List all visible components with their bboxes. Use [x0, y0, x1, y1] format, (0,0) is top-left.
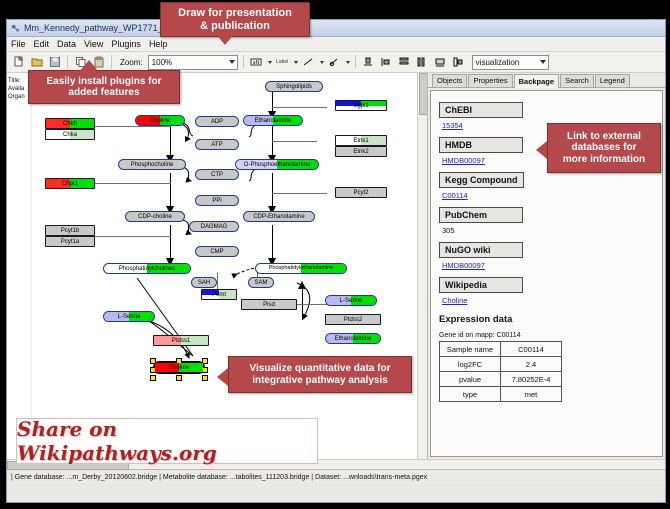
- group-icon[interactable]: [433, 55, 448, 70]
- node-sphingolipids[interactable]: Sphingolipids: [265, 81, 323, 92]
- menu-view[interactable]: View: [84, 39, 103, 49]
- node-label: Ptdss1: [172, 338, 190, 344]
- node-label: ATP: [211, 142, 222, 148]
- edge-pcyt2-line: [272, 193, 327, 194]
- node-choline-selected[interactable]: Choline: [153, 361, 205, 374]
- cell-value: met: [501, 387, 562, 402]
- node-label: Pemt: [212, 292, 226, 298]
- node-chpt1[interactable]: Chpt1: [45, 178, 95, 189]
- menu-data[interactable]: Data: [57, 39, 76, 49]
- label-icon[interactable]: Label: [275, 55, 290, 70]
- node-pcyt1b[interactable]: Pcyt1b: [45, 225, 95, 236]
- node-label: L-Serine: [118, 314, 141, 320]
- tab-objects[interactable]: Objects: [432, 74, 467, 87]
- node-ctp[interactable]: CTP: [195, 169, 239, 180]
- value-pubchem: 305: [442, 226, 654, 235]
- node-adp[interactable]: ADP: [195, 116, 239, 127]
- node-dagmag[interactable]: DAGMAG: [189, 221, 239, 232]
- tab-properties[interactable]: Properties: [468, 74, 512, 87]
- zoom-value: 100%: [152, 58, 172, 67]
- visualization-value: visualization: [476, 58, 520, 67]
- table-row: Sample name C00114: [440, 342, 562, 357]
- callout-external-links: Link to external databases for more info…: [547, 123, 661, 173]
- node-atp[interactable]: ATP: [195, 139, 239, 150]
- node-sah[interactable]: SAH: [191, 277, 217, 288]
- edge-sgpl1-line: [272, 107, 327, 108]
- section-header-hmdb: HMDB: [439, 137, 523, 153]
- callout-pointer-links: [536, 141, 547, 159]
- node-cmp[interactable]: CMP: [195, 246, 239, 257]
- window-titlebar: Mm_Kennedy_pathway_WP1771_45176.gpml: [7, 20, 665, 37]
- cell-name: log2FC: [440, 357, 501, 372]
- node-ptdss1[interactable]: Ptdss1: [153, 335, 209, 346]
- datanode-icon[interactable]: aN: [249, 55, 264, 70]
- node-choline-top[interactable]: Choline: [135, 115, 185, 126]
- toolbar-separator-2: [111, 55, 112, 69]
- stack-icon[interactable]: [397, 55, 412, 70]
- line-icon[interactable]: [301, 55, 316, 70]
- node-ppi[interactable]: PPi: [195, 195, 239, 206]
- screenshot-root: Mm_Kennedy_pathway_WP1771_45176.gpml Fil…: [0, 0, 670, 509]
- align-icon[interactable]: [361, 55, 376, 70]
- anchor-icon[interactable]: [327, 55, 342, 70]
- node-phosphatidylcholines[interactable]: Phosphatidylcholines: [103, 263, 191, 274]
- node-label: ADP: [211, 119, 223, 125]
- pathvisio-icon: [11, 24, 20, 33]
- section-header-kegg: Kegg Compound: [439, 172, 524, 188]
- info-organism: Organ: [8, 93, 30, 101]
- node-sam[interactable]: SAM: [248, 277, 274, 288]
- cell-value: C00114: [501, 342, 562, 357]
- node-ethanolamine-top[interactable]: Ethanolamine: [243, 115, 303, 126]
- node-cdp-choline[interactable]: CDP-choline: [125, 211, 185, 222]
- cell-name: type: [440, 387, 501, 402]
- node-label: Chka: [63, 132, 77, 138]
- section-header-pubchem: PubChem: [439, 207, 523, 223]
- cell-value: 2.4: [501, 357, 562, 372]
- callout-pointer-visualize: [217, 368, 228, 386]
- node-pcyt2[interactable]: Pcyt2: [335, 187, 387, 198]
- chevron-down-icon-visualization: [540, 60, 546, 64]
- section-header-wikipedia: Wikipedia: [439, 277, 523, 293]
- cell-name: Sample name: [440, 342, 501, 357]
- node-label: Ptdss2: [344, 317, 362, 323]
- node-label: Ethanolamine: [335, 336, 372, 342]
- node-ptdss2[interactable]: Ptdss2: [325, 314, 381, 325]
- section-header-nugo: NuGO wiki: [439, 242, 523, 258]
- save-icon[interactable]: [47, 55, 62, 70]
- callout-share-wikipathways: Share on Wikipathways.org: [16, 418, 318, 464]
- node-label: Choline: [150, 118, 170, 124]
- open-icon[interactable]: [29, 55, 44, 70]
- pathway-info-strip: Title: Availa Organ: [7, 73, 32, 459]
- edge-pemt-anchor: [217, 273, 218, 289]
- node-etnk1[interactable]: Etnk1: [335, 135, 387, 146]
- zoom-label: Zoom:: [120, 58, 143, 67]
- edge-etnk-line: [272, 141, 317, 142]
- menu-plugins[interactable]: Plugins: [111, 39, 141, 49]
- node-phosphatidylethanolamine[interactable]: Phosphatidylethanolamine: [255, 263, 347, 274]
- node-label: Phosphocholine: [131, 162, 174, 168]
- callout-pointer-plugins: [80, 60, 98, 71]
- table-row: log2FC 2.4: [440, 357, 562, 372]
- edge-chpt1-line: [95, 183, 171, 184]
- edge-pcyt1-line: [95, 236, 171, 237]
- node-ethanolamine-bottom[interactable]: Ethanolamine: [325, 333, 381, 344]
- statusbar: | Gene database: ...m_Derby_20120602.bri…: [7, 469, 665, 484]
- node-label: PPi: [212, 198, 221, 204]
- node-label: Pcyt2: [353, 190, 368, 196]
- node-label: CDP-Ethanolamine: [253, 214, 304, 220]
- toolbar-separator: [67, 55, 68, 69]
- node-label: Phosphatidylcholines: [119, 266, 175, 272]
- node-o-phosphoethanolamine[interactable]: O-Phosphoethanolamine: [235, 159, 319, 170]
- node-chkb[interactable]: Chkb: [45, 118, 95, 129]
- new-icon[interactable]: [11, 55, 26, 70]
- node-label: Phosphatidylethanolamine: [269, 266, 334, 272]
- zoom-combo[interactable]: 100%: [148, 55, 238, 70]
- link-nugo[interactable]: HMDB00097: [442, 261, 654, 270]
- node-label: Etnk2: [353, 149, 368, 155]
- label-icon-text: Label: [276, 59, 288, 65]
- chevron-down-icon-anchor[interactable]: [346, 61, 350, 64]
- node-sgpl1[interactable]: Sgpl1: [335, 100, 387, 111]
- node-label: Sgpl1: [353, 103, 368, 109]
- tab-legend[interactable]: Legend: [595, 74, 630, 87]
- menu-help[interactable]: Help: [149, 39, 168, 49]
- distribute-icon[interactable]: [379, 55, 394, 70]
- node-pisd[interactable]: Pisd: [241, 299, 297, 310]
- node-etnk2[interactable]: Etnk2: [335, 146, 387, 157]
- gene-id-line: Gene id on mapp: C00114: [439, 332, 654, 339]
- node-phosphocholine[interactable]: Phosphocholine: [118, 159, 186, 170]
- node-label: Sphingolipids: [276, 84, 312, 90]
- tab-backpage[interactable]: Backpage: [514, 74, 559, 88]
- statusbar-text: | Gene database: ...m_Derby_20120602.bri…: [11, 474, 427, 481]
- node-pemt[interactable]: Pemt: [201, 289, 237, 300]
- node-label: Pisd: [263, 302, 275, 308]
- node-l-serine-right[interactable]: L-Serine: [325, 295, 377, 306]
- cell-name: pvalue: [440, 372, 501, 387]
- space-icon[interactable]: [415, 55, 430, 70]
- side-panel-tabs: Objects Properties Backpage Search Legen…: [428, 73, 665, 88]
- node-label: Choline: [169, 365, 189, 371]
- table-row: type met: [440, 387, 562, 402]
- section-header-chebi: ChEBI: [439, 102, 523, 118]
- chevron-down-icon: [229, 60, 235, 64]
- node-label: Chkb: [63, 121, 77, 127]
- node-l-serine-left[interactable]: L-Serine: [103, 311, 155, 322]
- visualization-combo[interactable]: visualization: [472, 55, 549, 70]
- pathway-canvas[interactable]: Title: Availa Organ: [7, 73, 428, 459]
- node-label: CMP: [210, 249, 223, 255]
- node-label: SAM: [254, 280, 267, 286]
- node-label: O-Phosphoethanolamine: [244, 162, 310, 168]
- expression-data-title: Expression data: [439, 314, 654, 325]
- arrowhead-icon-8: [298, 281, 307, 289]
- svg-text:aN: aN: [253, 60, 260, 66]
- node-label: Pcyt1b: [61, 228, 79, 234]
- link-kegg[interactable]: C00114: [442, 191, 654, 200]
- share-text: Share on Wikipathways.org: [17, 417, 317, 465]
- node-chka[interactable]: Chka: [45, 129, 95, 140]
- link-wikipedia[interactable]: Choline: [442, 296, 654, 305]
- node-label: Ethanolamine: [255, 118, 292, 124]
- callout-pointer-draw: [216, 34, 234, 45]
- table-row: pvalue 7.80252E-4: [440, 372, 562, 387]
- scrollbar-thumb[interactable]: [419, 73, 428, 115]
- menu-edit[interactable]: Edit: [34, 39, 50, 49]
- order-icon[interactable]: [451, 55, 466, 70]
- toolbar-separator-3: [243, 55, 244, 69]
- chevron-down-icon-datanode[interactable]: [268, 61, 272, 64]
- callout-install-plugins: Easily install plugins for added feature…: [28, 70, 180, 104]
- info-title-label: Title:: [8, 77, 30, 85]
- toolbar-separator-4: [355, 55, 356, 69]
- expression-table: Sample name C00114 log2FC 2.4 pvalue 7.8…: [439, 341, 562, 402]
- menubar: File Edit Data View Plugins Help: [7, 37, 665, 52]
- info-availability: Availa: [8, 85, 30, 93]
- tab-search[interactable]: Search: [560, 74, 594, 87]
- callout-visualize-data: Visualize quantitative data for integrat…: [228, 356, 412, 393]
- canvas-vertical-scrollbar[interactable]: [417, 73, 427, 459]
- node-label: Pcyt1a: [61, 239, 79, 245]
- node-label: Etnk1: [353, 138, 368, 144]
- cell-value: 7.80252E-4: [501, 372, 562, 387]
- node-label: CDP-choline: [138, 214, 172, 220]
- node-pcyt1a[interactable]: Pcyt1a: [45, 236, 95, 247]
- chevron-down-icon-label[interactable]: [294, 61, 298, 64]
- callout-draw-for-publication: Draw for presentation & publication: [160, 2, 310, 37]
- node-label: Chpt1: [62, 181, 78, 187]
- edge-chk-choline: [95, 126, 171, 127]
- node-label: CTP: [211, 172, 223, 178]
- node-label: L-Serine: [340, 298, 363, 304]
- node-cdp-ethanolamine[interactable]: CDP-Ethanolamine: [243, 211, 315, 222]
- node-label: DAGMAG: [201, 224, 228, 230]
- chevron-down-icon-line[interactable]: [320, 61, 324, 64]
- node-label: SAH: [198, 280, 210, 286]
- menu-file[interactable]: File: [11, 39, 26, 49]
